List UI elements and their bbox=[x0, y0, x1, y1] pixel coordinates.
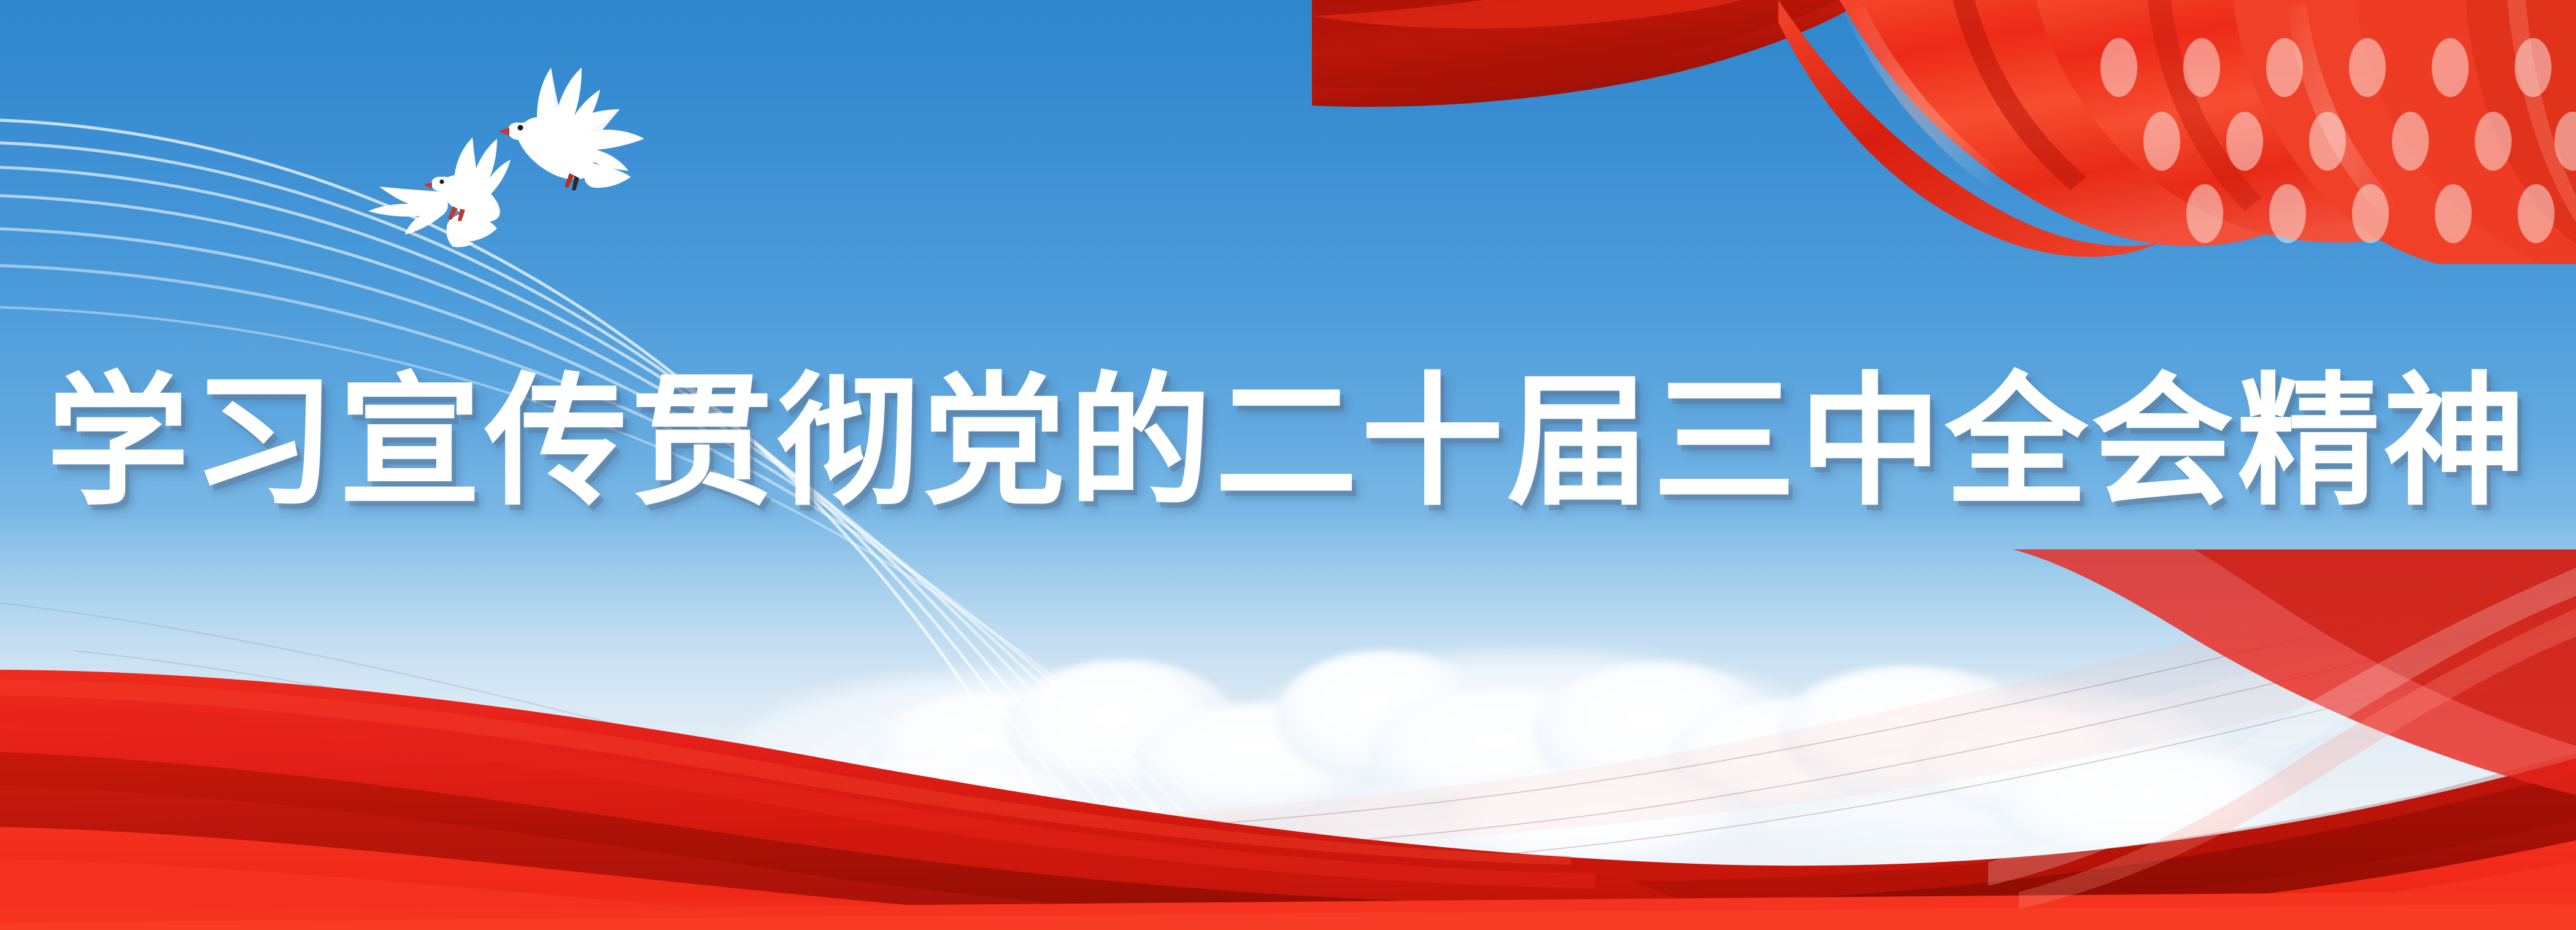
peace-dove-large bbox=[498, 68, 644, 190]
peace-dove-small bbox=[368, 138, 511, 247]
red-silk-ribbon bbox=[1312, 0, 2576, 264]
red-silk-wave bbox=[0, 549, 2576, 930]
peace-doves-group bbox=[356, 37, 675, 270]
banner-root: 学习宣传贯彻党的二十届三中全会精神 bbox=[0, 0, 2576, 930]
